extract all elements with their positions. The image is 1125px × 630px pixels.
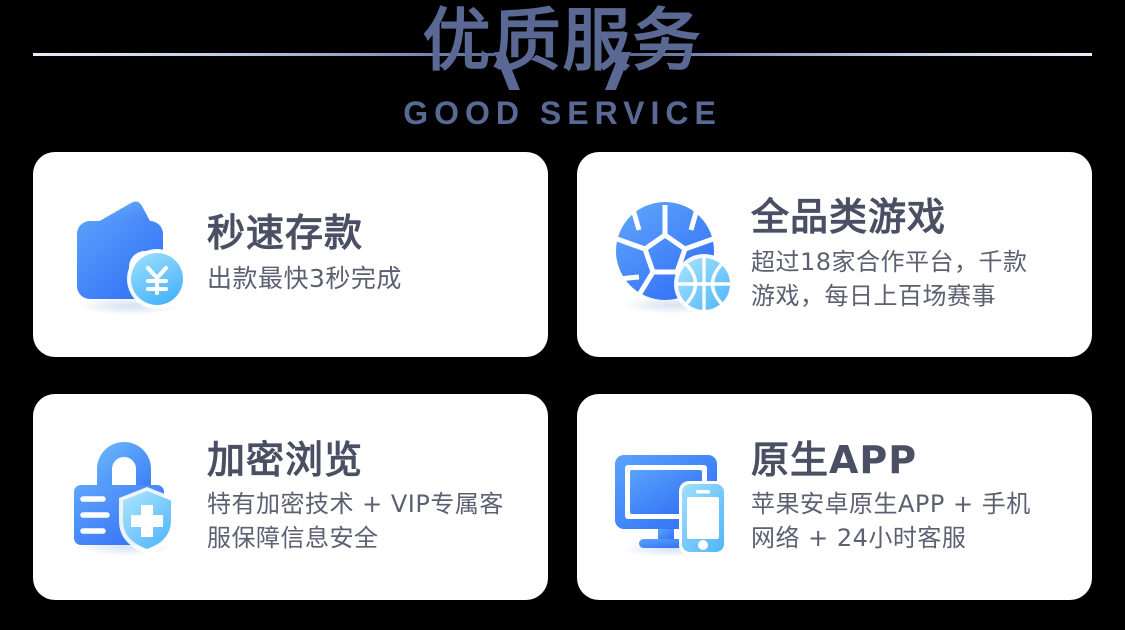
card-title: 原生APP xyxy=(751,439,1070,482)
card-text-block: 全品类游戏 超过18家合作平台，千款 游戏，每日上百场赛事 xyxy=(743,196,1070,313)
card-text-block: 原生APP 苹果安卓原生APP + 手机 网络 + 24小时客服 xyxy=(743,439,1070,556)
feature-card-grid: 秒速存款 出款最快3秒完成 xyxy=(33,152,1092,600)
card-description: 超过18家合作平台，千款 游戏，每日上百场赛事 xyxy=(751,245,1070,313)
card-description-line: 苹果安卓原生APP + 手机 xyxy=(751,487,1070,521)
page-title: 优质服务 xyxy=(0,8,1125,76)
card-text-block: 加密浏览 特有加密技术 + VIP专属客 服保障信息安全 xyxy=(199,439,526,556)
promo-banner: 优质服务 GOOD SERVICE xyxy=(0,0,1125,630)
feature-card-instant-deposit[interactable]: 秒速存款 出款最快3秒完成 xyxy=(33,152,548,357)
wallet-yuan-icon xyxy=(59,185,199,325)
card-description-line: 网络 + 24小时客服 xyxy=(751,521,1070,555)
feature-card-all-category-games[interactable]: 全品类游戏 超过18家合作平台，千款 游戏，每日上百场赛事 xyxy=(577,152,1092,357)
card-description-line: 超过18家合作平台，千款 xyxy=(751,245,1070,279)
card-description-line: 服保障信息安全 xyxy=(207,521,526,555)
card-description-line: 出款最快3秒完成 xyxy=(207,261,526,297)
soccer-basketball-icon xyxy=(603,185,743,325)
card-description: 出款最快3秒完成 xyxy=(207,261,526,297)
feature-card-encrypted-browsing[interactable]: 加密浏览 特有加密技术 + VIP专属客 服保障信息安全 xyxy=(33,394,548,600)
lock-shield-icon xyxy=(59,427,199,567)
card-text-block: 秒速存款 出款最快3秒完成 xyxy=(199,212,526,296)
page-subtitle: GOOD SERVICE xyxy=(0,97,1125,129)
card-description-line: 游戏，每日上百场赛事 xyxy=(751,279,1070,313)
feature-card-native-app[interactable]: 原生APP 苹果安卓原生APP + 手机 网络 + 24小时客服 xyxy=(577,394,1092,600)
card-title: 加密浏览 xyxy=(207,439,526,482)
card-description: 特有加密技术 + VIP专属客 服保障信息安全 xyxy=(207,487,526,555)
card-description-line: 特有加密技术 + VIP专属客 xyxy=(207,487,526,521)
card-title: 秒速存款 xyxy=(207,212,526,255)
card-title: 全品类游戏 xyxy=(751,196,1070,239)
section-header: 优质服务 GOOD SERVICE xyxy=(0,0,1125,150)
monitor-phone-icon xyxy=(603,427,743,567)
card-description: 苹果安卓原生APP + 手机 网络 + 24小时客服 xyxy=(751,487,1070,555)
